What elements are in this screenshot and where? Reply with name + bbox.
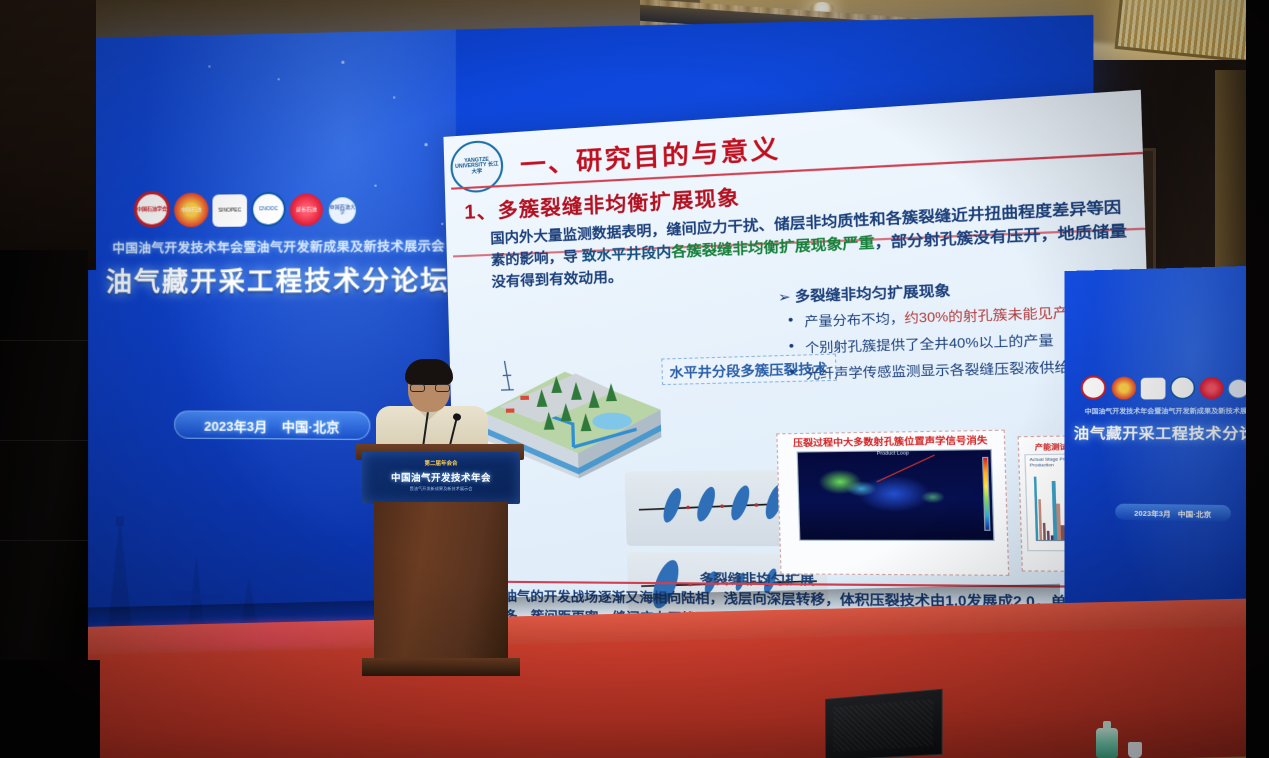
cps-logo: 中国石油学会: [134, 191, 170, 228]
petrochina-logo: 中国石油: [174, 193, 208, 228]
right-banner-date-badge: 2023年3月 中国·北京: [1115, 504, 1231, 522]
lectern-sign-sub-line: 暨油气开发新成果及新技术展示会: [362, 486, 520, 492]
lectern: 第二届年会合 中国油气开发技术年会 暨油气开发新成果及新技术展示会: [360, 444, 520, 690]
right-dark-edge: [1246, 0, 1269, 758]
right-banner-forum-title: 油气藏开采工程技术分论坛: [1069, 421, 1269, 443]
bullet-header-text: 多裂缝非均匀扩展现象: [795, 282, 951, 304]
water-bottle: [1096, 728, 1118, 758]
bar-group: [1034, 469, 1054, 542]
heatmap-inner-title: Product Loop: [798, 449, 991, 457]
glasses-icon: [410, 384, 450, 392]
das-heatmap-chart: 压裂过程中大多数射孔簇位置声学信号消失 Product Loop: [776, 430, 1009, 576]
bullet-lead: 个别射孔簇提供了全井40%以上的产量: [805, 333, 1054, 356]
cnooc-logo: CNOOC: [251, 192, 286, 227]
institute-logo: 中国石油大学: [327, 195, 358, 226]
yanchang-logo: 延长石油: [290, 193, 323, 226]
cnooc-logo: [1170, 376, 1195, 399]
lectern-sign-main-line: 中国油气开发技术年会: [362, 470, 520, 484]
stage-monitor-speaker: [825, 689, 942, 758]
presenter-hair: [405, 359, 453, 385]
sinopec-logo: [1141, 378, 1166, 400]
right-banner-organizer-line: 中国油气开发技术年会暨油气开发新成果及新技术展示会: [1072, 405, 1269, 416]
pa-speaker-stack: [0, 250, 88, 670]
bullet-highlight: 约30%的射孔簇未能见产: [904, 305, 1068, 326]
yanchang-logo: [1200, 377, 1224, 399]
bar: [1057, 504, 1061, 541]
sponsor-logo-row-right: [1081, 359, 1249, 400]
lectern-sign: 第二届年会合 中国油气开发技术年会 暨油气开发新成果及新技术展示会: [362, 452, 520, 504]
banner-organizer-line: 中国油气开发技术年会暨油气开发新成果及新技术展示会: [110, 235, 448, 257]
conference-photo: 中国石油学会 中国石油 SINOPEC CNOOC 延长石油 中国石油大学 中国…: [0, 0, 1269, 758]
led-video-wall: 中国石油学会 中国石油 SINOPEC CNOOC 延长石油 中国石油大学 中国…: [88, 15, 1093, 671]
lectern-body: [374, 502, 508, 662]
paragraph-part-2: 致水平井段内: [582, 244, 672, 264]
presentation-slide: YANGTZE UNIVERSITY 长江大学 一、研究目的与意义 1、多簇裂缝…: [443, 90, 1159, 662]
sponsor-logo-row: 中国石油学会 中国石油 SINOPEC CNOOC 延长石油 中国石油大学: [134, 161, 441, 227]
paragraph-highlight: 各簇裂缝非均衡扩展现象严重: [671, 234, 875, 260]
bullet-lead: 产量分布不均，: [804, 311, 904, 330]
left-dark-structure: [0, 0, 96, 270]
bottom-dark-edge: [0, 660, 100, 758]
lectern-sign-top-line: 第二届年会合: [362, 459, 520, 467]
sinopec-logo: SINOPEC: [212, 194, 247, 227]
bar: [1043, 522, 1047, 541]
banner-forum-title: 油气藏开采工程技术分论坛: [98, 260, 456, 299]
bar: [1038, 500, 1042, 541]
colorbar: [982, 457, 990, 531]
petrochina-logo: [1112, 377, 1136, 400]
chart-caption: 压裂过程中大多数射孔簇位置声学信号消失: [780, 435, 1002, 449]
right-banner-location-text: 中国·北京: [1178, 507, 1212, 518]
lectern-base: [362, 658, 520, 676]
cps-logo: [1081, 376, 1107, 400]
heatmap-plot: Product Loop: [797, 449, 995, 541]
right-banner-date-text: 2023年3月: [1134, 507, 1170, 518]
paper-cup: [1128, 742, 1142, 758]
